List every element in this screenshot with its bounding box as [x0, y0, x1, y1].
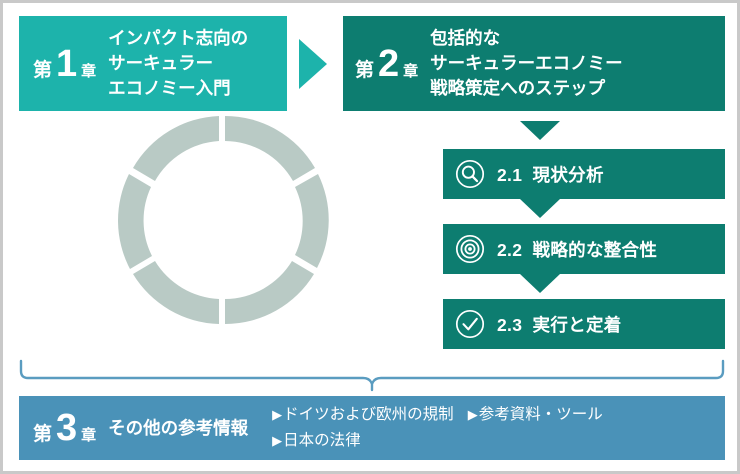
step-label-2-2: 2.2 戦略的な整合性 — [497, 237, 657, 262]
chapter-3-link-japanese-law[interactable]: ▶日本の法律 — [272, 429, 658, 453]
step-box-2-2[interactable]: 2.2 戦略的な整合性 — [443, 224, 725, 274]
triangle-bullet-icon: ▶ — [272, 433, 282, 448]
step-label-2-3: 2.3 実行と定着 — [497, 312, 622, 337]
chapter-1-prefix: 第 — [33, 61, 52, 80]
chapter-2-suffix: 章 — [403, 64, 418, 79]
chapter-2-title: 包括的な サーキュラーエコノミー 戦略策定へのステップ — [430, 26, 623, 101]
chapter-1-suffix: 章 — [81, 64, 96, 79]
chapter-3-box[interactable]: 第 3 章 その他の参考情報 ▶ドイツおよび欧州の規制 ▶参考資料・ツール ▶日… — [19, 396, 725, 460]
down-arrow-icon-to-step-21 — [520, 121, 560, 140]
step-box-2-1[interactable]: 2.1 現状分析 — [443, 149, 725, 199]
chapter-3-tag: 第 3 章 — [33, 409, 96, 447]
down-arrow-icon-to-step-22 — [520, 199, 560, 218]
chapter-3-link-reference-materials[interactable]: ▶参考資料・ツール — [468, 403, 603, 427]
chapter-2-tag: 第 2 章 — [355, 45, 418, 83]
chapter-3-title: その他の参考情報 — [108, 417, 248, 440]
chapter-3-link-label-3: 日本の法律 — [283, 432, 361, 449]
step-box-2-3[interactable]: 2.3 実行と定着 — [443, 299, 725, 349]
chapter-3-link-label-1: ドイツおよび欧州の規制 — [283, 406, 454, 423]
chapter-3-suffix: 章 — [81, 428, 96, 443]
triangle-bullet-icon: ▶ — [468, 407, 478, 422]
chapter-2-box[interactable]: 第 2 章 包括的な サーキュラーエコノミー 戦略策定へのステップ — [343, 16, 725, 111]
chapter-3-number: 3 — [56, 409, 77, 447]
right-triangle-arrow-icon — [299, 39, 327, 89]
grouping-brace — [19, 359, 725, 393]
chapter-3-link-label-2: 参考資料・ツール — [479, 406, 603, 423]
circular-economy-loop-icon — [111, 106, 339, 334]
check-circle-icon — [455, 309, 485, 339]
step-label-2-1: 2.1 現状分析 — [497, 162, 604, 187]
chapter-2-prefix: 第 — [355, 61, 374, 80]
down-arrow-icon-to-step-23 — [520, 274, 560, 293]
chapter-1-tag: 第 1 章 — [33, 45, 96, 83]
chapter-1-box[interactable]: 第 1 章 インパクト志向の サーキュラー エコノミー入門 — [19, 16, 287, 111]
chapter-3-link-list: ▶ドイツおよび欧州の規制 ▶参考資料・ツール ▶日本の法律 — [272, 403, 672, 453]
triangle-bullet-icon: ▶ — [272, 407, 282, 422]
target-icon — [455, 234, 485, 264]
chapter-1-number: 1 — [56, 45, 77, 83]
chapter-3-prefix: 第 — [33, 425, 52, 444]
chapter-3-link-german-eu-regulation[interactable]: ▶ドイツおよび欧州の規制 — [272, 403, 454, 427]
chapter-1-title: インパクト志向の サーキュラー エコノミー入門 — [108, 26, 248, 101]
diagram-canvas: 第 1 章 インパクト志向の サーキュラー エコノミー入門 第 2 章 包括的な… — [0, 0, 740, 474]
chapter-2-number: 2 — [378, 45, 399, 83]
magnifier-icon — [455, 159, 485, 189]
